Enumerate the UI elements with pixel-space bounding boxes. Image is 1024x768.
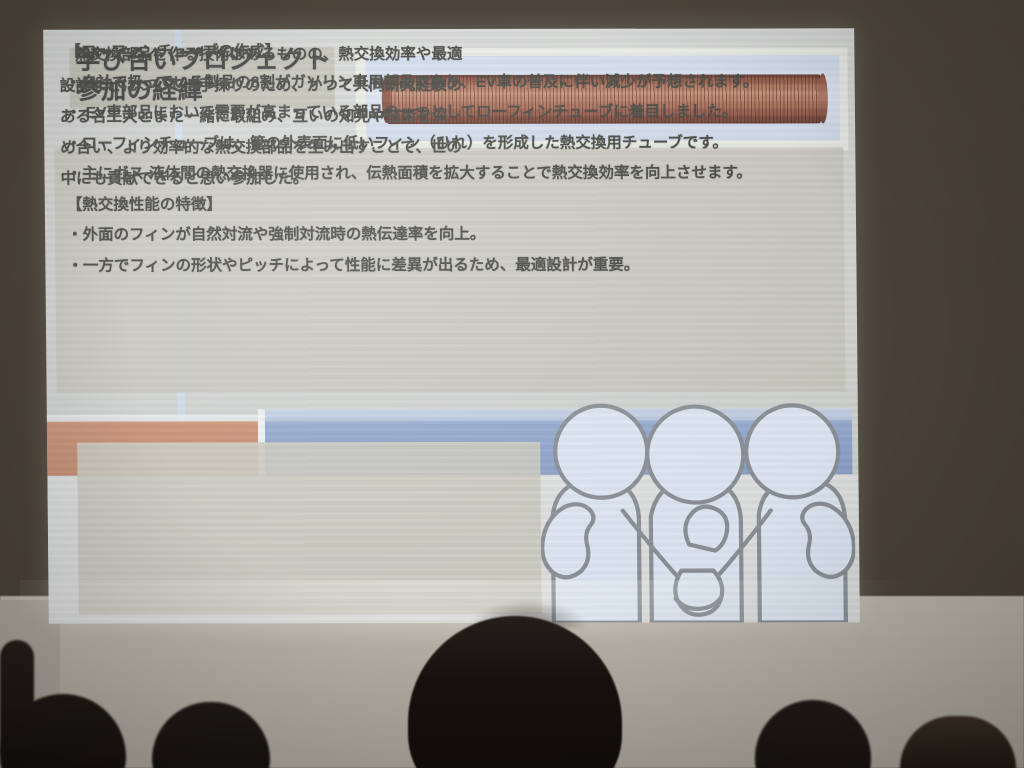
slide-quote-panel (77, 442, 542, 615)
content-line-7: ・一方でフィンの形状やピッチによって性能に差異が出るため、最適設計が重要。 (67, 250, 837, 282)
quote-line-0: 熱交換部品を作る技術はあるものの、熱交換効率や最適 (59, 39, 499, 71)
content-line-6: ・外面のフィンが自然対流や強制対流時の熱伝達率を向上。 (67, 219, 837, 251)
quote-line-4: 中にも貢献できると思い参加した。 (60, 163, 500, 195)
slide-quote-text: 熱交換部品を作る技術はあるものの、熱交換効率や最適 設計などについては手探りのた… (59, 39, 501, 195)
projected-slide: 学び合いプロジェクト 参加の経緯 【ローフィンチューブの作成】 ・自社で扱ってい… (43, 28, 860, 623)
quote-line-2: ある名工大とまた一緒に取組み、互いの知見や技術を深 (60, 101, 500, 133)
photo-scene: 学び合いプロジェクト 参加の経緯 【ローフィンチューブの作成】 ・自社で扱ってい… (0, 0, 1024, 768)
audience-head-far-left (0, 640, 34, 760)
quote-line-1: 設計などについては手探りのため、かつて共同研究経験の (60, 70, 500, 102)
three-people-illustration (534, 394, 856, 623)
quote-line-3: め合い、より効率的な熱交換部品を生み出すことで、世の (60, 132, 500, 164)
